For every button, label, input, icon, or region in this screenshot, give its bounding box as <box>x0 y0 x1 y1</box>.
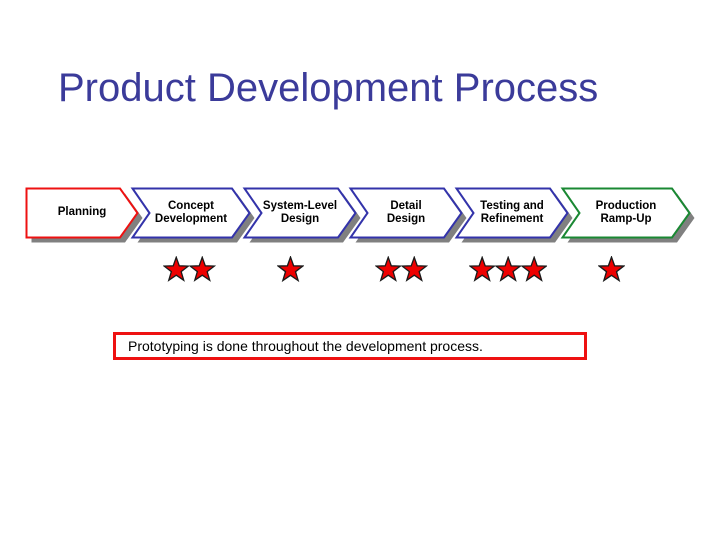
star-group-2 <box>163 253 216 285</box>
star-icon <box>521 256 547 283</box>
process-phase-6[interactable]: ProductionRamp-Up <box>562 188 690 240</box>
star-icon <box>277 256 304 283</box>
star-icon <box>163 256 190 283</box>
process-phase-3[interactable]: System-LevelDesign <box>244 188 356 240</box>
star-icon <box>375 256 402 283</box>
process-chevron-row: PlanningConceptDevelopmentSystem-LevelDe… <box>0 188 720 250</box>
caption-text: Prototyping is done throughout the devel… <box>128 338 483 354</box>
star-group-4 <box>375 253 428 285</box>
star-icon <box>598 256 625 283</box>
star-icon <box>189 256 216 283</box>
phase-shape <box>457 189 568 238</box>
process-phase-2[interactable]: ConceptDevelopment <box>132 188 250 240</box>
star-group-5 <box>469 253 548 285</box>
star-icon <box>469 256 495 283</box>
star-rating-row <box>0 253 720 287</box>
caption-box: Prototyping is done throughout the devel… <box>113 332 587 360</box>
phase-shape <box>133 189 250 238</box>
process-phase-1[interactable]: Planning <box>26 188 138 240</box>
phase-shape <box>351 189 462 238</box>
star-icon <box>401 256 428 283</box>
process-phase-4[interactable]: DetailDesign <box>350 188 462 240</box>
page-title: Product Development Process <box>58 64 678 112</box>
slide-canvas: Product Development Process PlanningConc… <box>0 0 720 540</box>
phase-shape <box>563 189 690 238</box>
star-icon <box>495 256 521 283</box>
star-group-3 <box>277 253 304 285</box>
star-group-6 <box>598 253 625 285</box>
phase-shape <box>27 189 138 238</box>
phase-shape <box>245 189 356 238</box>
process-phase-5[interactable]: Testing andRefinement <box>456 188 568 240</box>
